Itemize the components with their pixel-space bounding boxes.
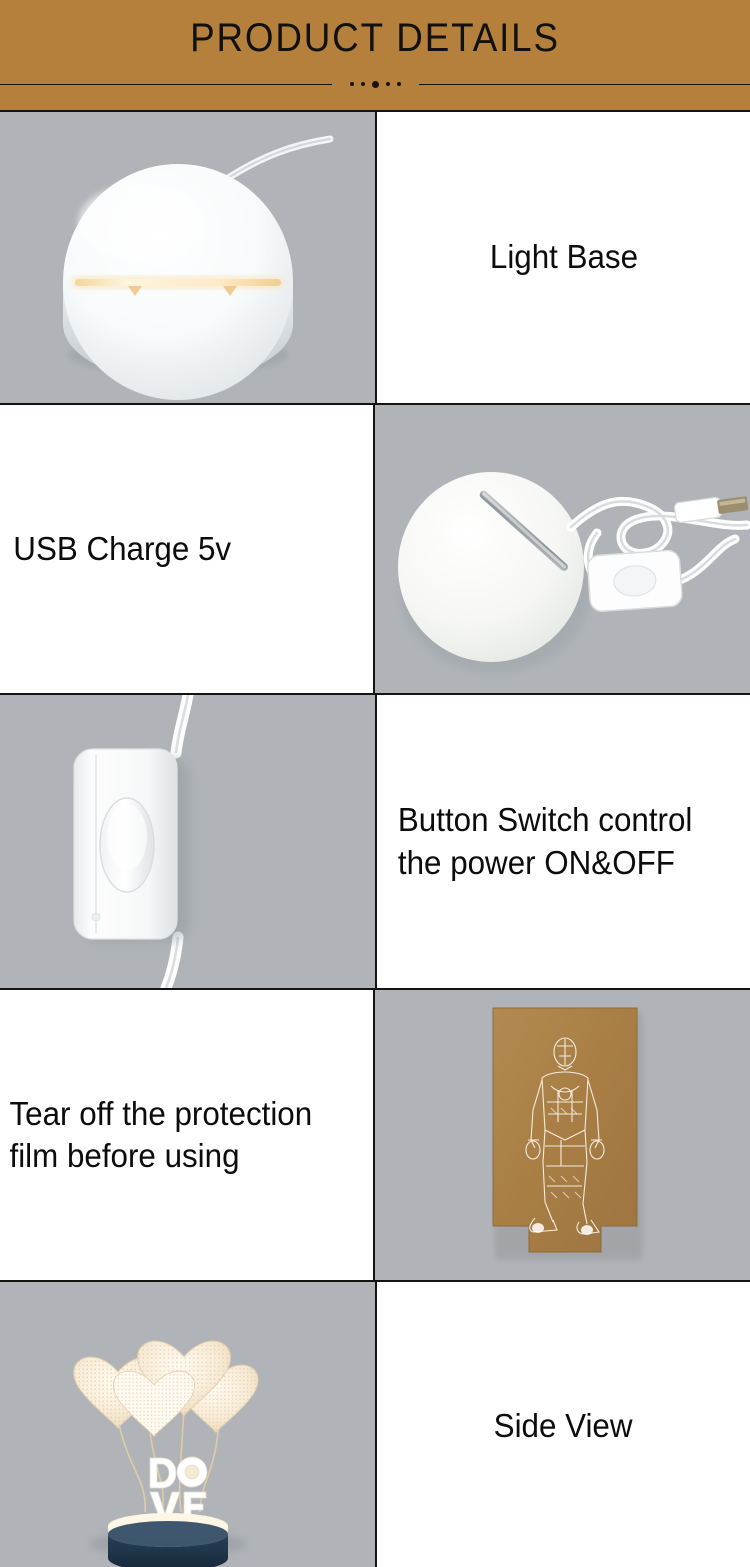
divider-line-left [0, 84, 332, 85]
detail-row-usb-charge: USB Charge 5v [0, 403, 750, 693]
caption-line: film before using [10, 1135, 313, 1177]
caption-button-switch: Button Switch control the power ON&OFF [377, 799, 692, 883]
divider-dot [397, 82, 401, 86]
caption-light-base: Light Base [489, 236, 637, 278]
divider-line-right [419, 84, 750, 85]
love-balloon-lamp-illustration [0, 1282, 375, 1567]
light-base-photo [0, 112, 375, 403]
detail-row-side-view: Side View [0, 1280, 750, 1567]
button-switch-text-cell: Button Switch control the power ON&OFF [375, 695, 750, 988]
acrylic-panel-illustration [375, 990, 750, 1280]
detail-row-protection-film: Tear off the protection film before usin… [0, 988, 750, 1280]
light-base-text-cell: Light Base [375, 112, 750, 403]
usb-cable-base-photo [375, 405, 750, 693]
light-base-illustration [0, 112, 375, 403]
inline-switch-photo [0, 695, 375, 988]
caption-line: Tear off the protection [10, 1093, 313, 1135]
caption-usb-charge: USB Charge 5v [0, 528, 231, 570]
dotted-divider-icon [332, 81, 419, 88]
caption-line: the power ON&OFF [398, 842, 693, 884]
divider-dot [350, 82, 354, 86]
divider-dot [361, 82, 365, 86]
protection-film-text-cell: Tear off the protection film before usin… [0, 990, 375, 1280]
page-title: PRODUCT DETAILS [190, 18, 560, 58]
detail-row-light-base: Light Base [0, 110, 750, 403]
divider-dot-center [372, 81, 379, 88]
divider [0, 78, 750, 90]
page-header-banner: PRODUCT DETAILS [0, 0, 750, 110]
divider-dot [386, 82, 390, 86]
product-details-page: PRODUCT DETAILS [0, 0, 750, 1567]
side-view-text-cell: Side View [375, 1282, 750, 1567]
inline-switch-illustration [0, 695, 375, 988]
detail-row-button-switch: Button Switch control the power ON&OFF [0, 693, 750, 988]
usb-cable-illustration [375, 405, 750, 693]
caption-line: Button Switch control [398, 799, 693, 841]
caption-protection-film: Tear off the protection film before usin… [0, 1093, 312, 1177]
caption-side-view: Side View [494, 1405, 633, 1447]
love-balloon-lamp-photo [0, 1282, 375, 1567]
usb-charge-text-cell: USB Charge 5v [0, 405, 375, 693]
acrylic-panel-film-photo [375, 990, 750, 1280]
